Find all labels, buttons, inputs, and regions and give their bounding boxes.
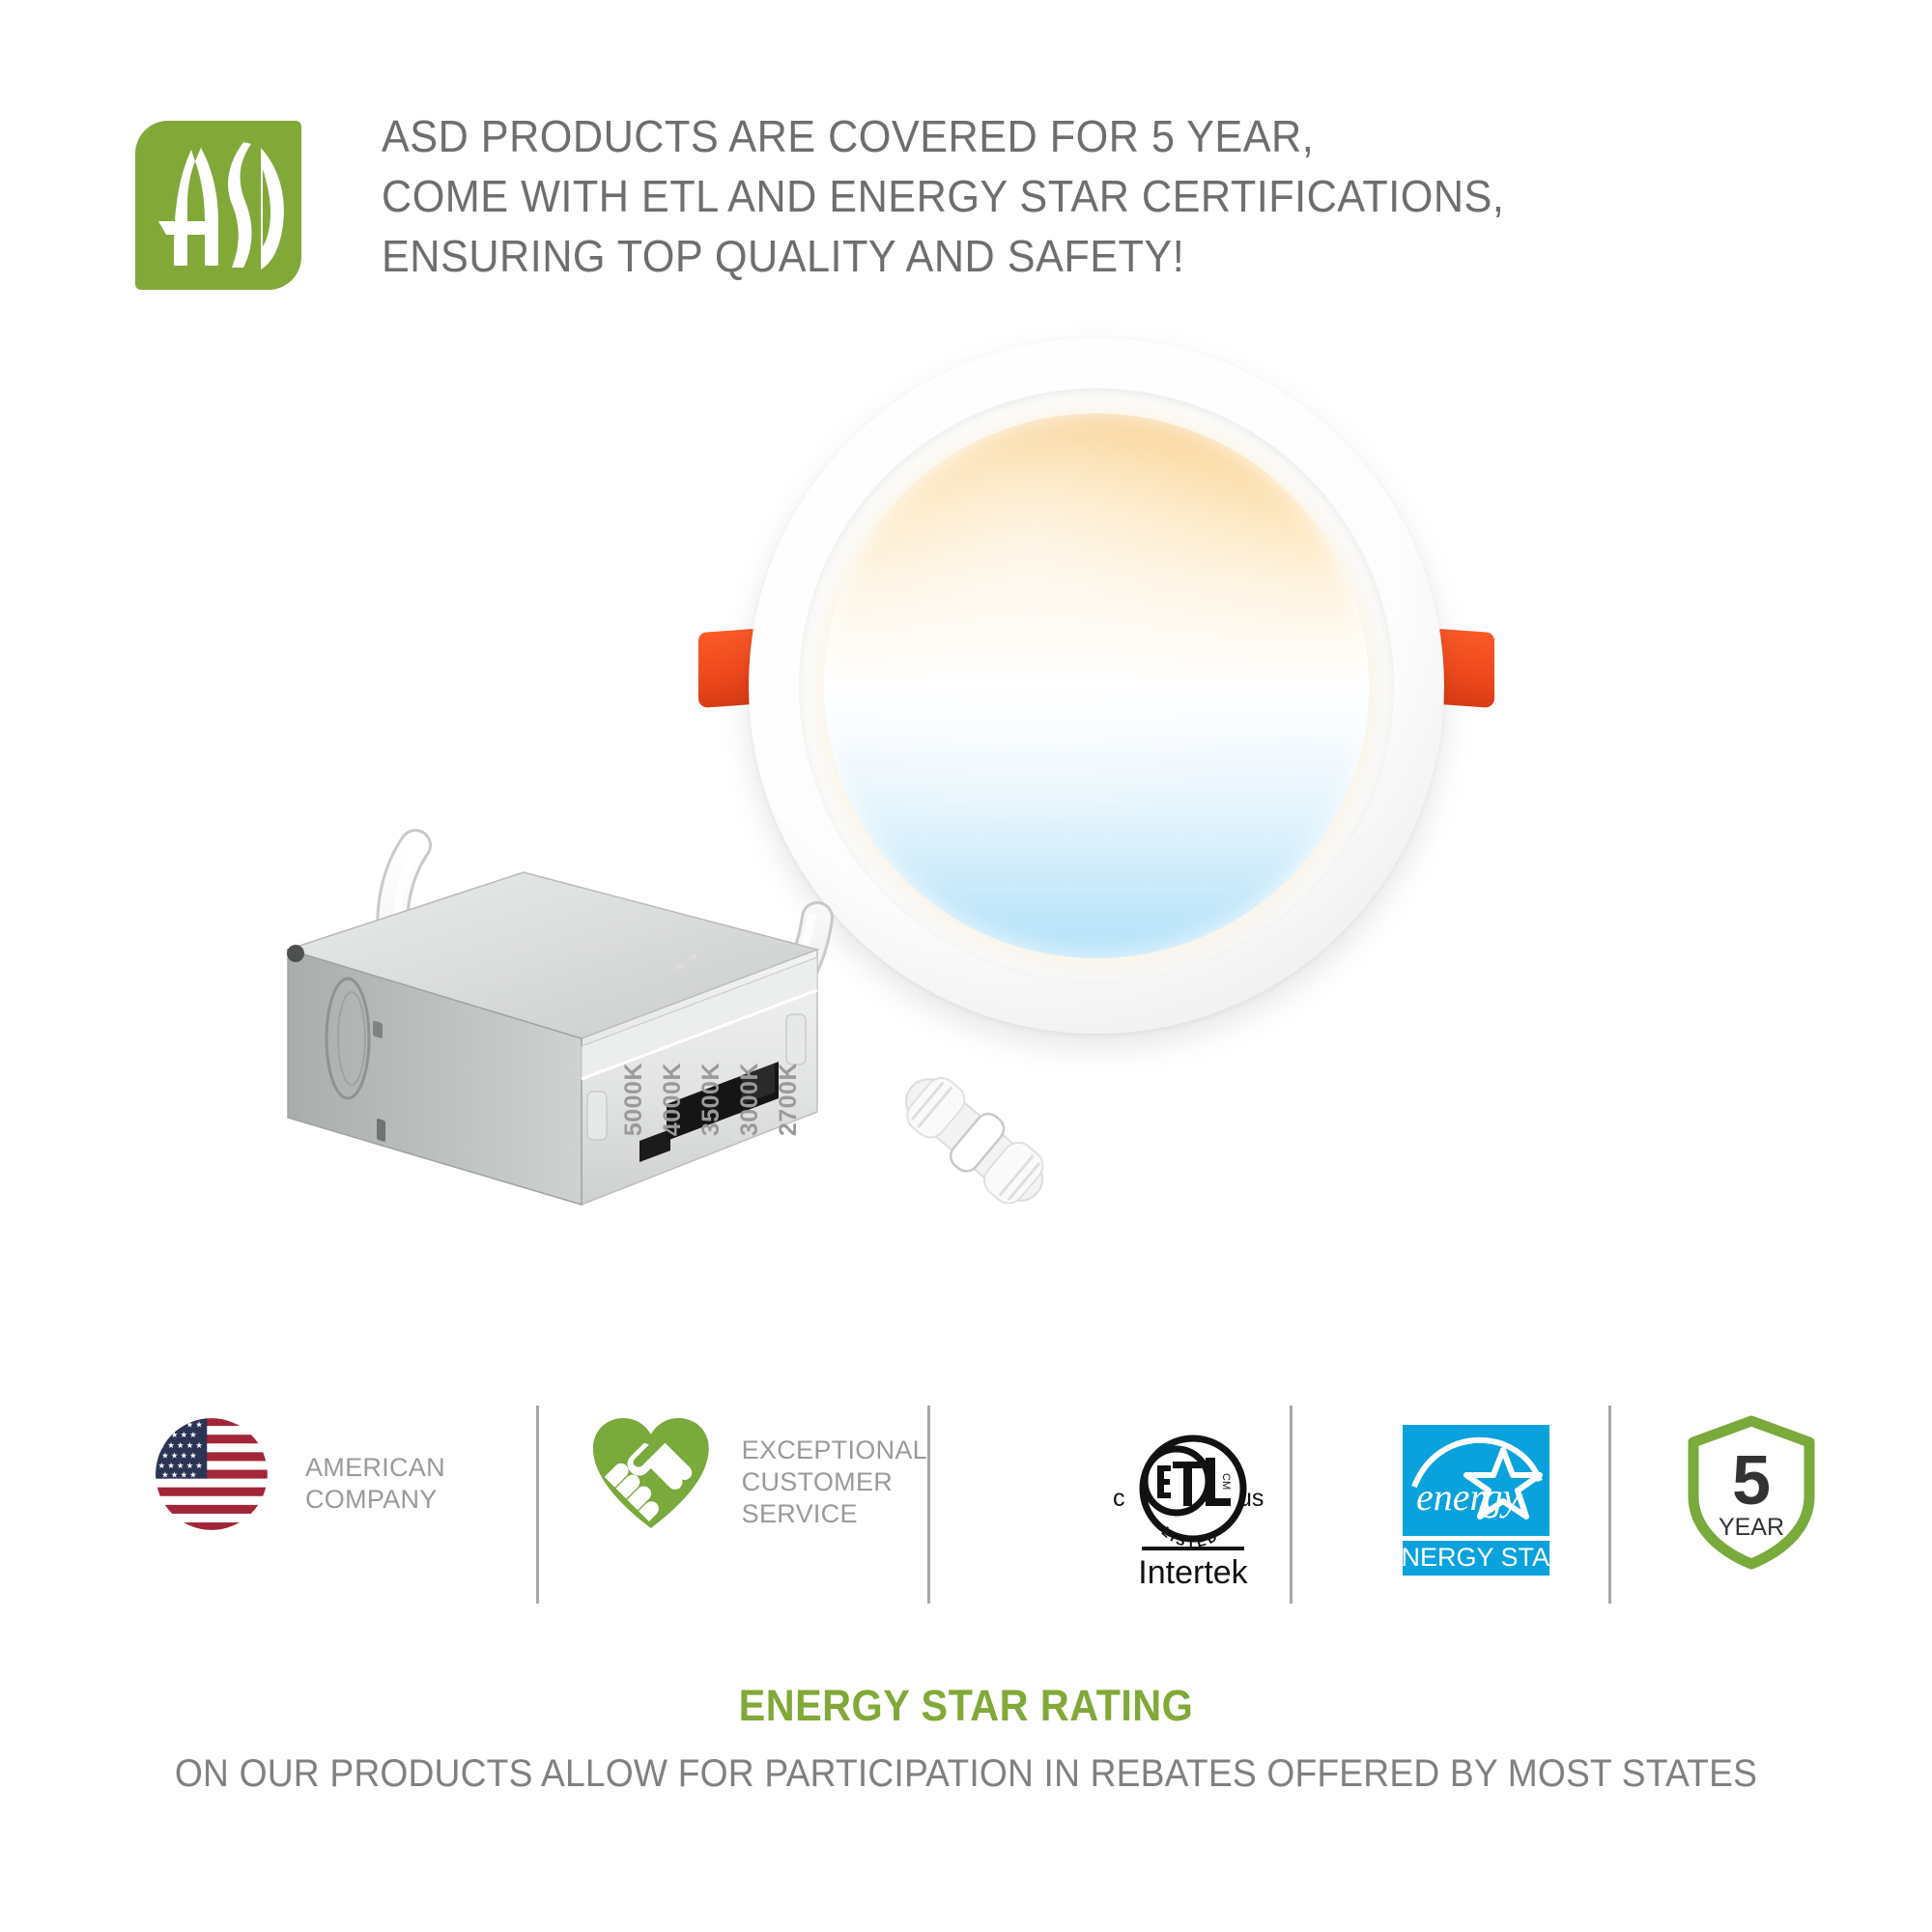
etl-intertek-label: Intertek <box>1138 1554 1248 1591</box>
header-line-2: COME WITH ETL AND ENERGY STAR CERTIFICAT… <box>382 166 1744 226</box>
etl-c-label: c <box>1113 1485 1125 1512</box>
cct-option-5000k: 5000K <box>620 1063 648 1136</box>
handshake-heart-icon <box>589 1413 713 1531</box>
badge-divider-4 <box>1608 1406 1611 1604</box>
footer-subtitle: ON OUR PRODUCTS ALLOW FOR PARTICIPATION … <box>68 1752 1864 1796</box>
svg-text:★ ★ ★ ★: ★ ★ ★ ★ <box>161 1451 196 1460</box>
quick-connect-connector <box>850 1014 1101 1265</box>
badge-line: CUSTOMER <box>742 1466 927 1498</box>
badge-line: EXCEPTIONAL <box>742 1435 927 1466</box>
badge-energy-star: energy ENERGY STAR <box>1348 1396 1608 1618</box>
svg-text:★ ★ ★ ★: ★ ★ ★ ★ <box>161 1471 196 1480</box>
badge-divider-2 <box>927 1406 930 1604</box>
badge-customer-service-label: EXCEPTIONAL CUSTOMER SERVICE <box>742 1435 927 1530</box>
cct-option-3000k: 3000K <box>736 1063 764 1136</box>
badge-warranty-5-year: 5 YEAR <box>1666 1396 1835 1618</box>
energy-script-label: energy <box>1416 1475 1520 1519</box>
junction-box: 5000K 4000K 3500K 3000K 2700K <box>280 845 821 1251</box>
header-headline: ASD PRODUCTS ARE COVERED FOR 5 YEAR, COM… <box>382 106 1744 286</box>
footer: ENERGY STAR RATING ON OUR PRODUCTS ALLOW… <box>0 1681 1932 1796</box>
badge-american-company: ★ ★ ★ ★ ★ ★ ★ ★ ★ ★ ★ ★ ★ ★ ★ ★ ★ ★ ★ ★ … <box>155 1396 531 1618</box>
badge-line: AMERICAN <box>305 1452 445 1484</box>
product-image: 5000K 4000K 3500K 3000K 2700K <box>0 319 1932 1372</box>
etl-listed-label: LISTED <box>1159 1523 1223 1549</box>
header: ASD PRODUCTS ARE COVERED FOR 5 YEAR, COM… <box>135 106 1835 319</box>
cct-option-3500k: 3500K <box>697 1063 725 1136</box>
svg-text:★ ★ ★ ★ ★: ★ ★ ★ ★ ★ <box>158 1441 203 1450</box>
etl-listed-intertek-icon: c us CM LISTED Intertek <box>1101 1417 1285 1596</box>
cct-option-4000k: 4000K <box>659 1063 687 1136</box>
certification-badge-row: ★ ★ ★ ★ ★ ★ ★ ★ ★ ★ ★ ★ ★ ★ ★ ★ ★ ★ ★ ★ … <box>135 1396 1835 1618</box>
asd-logo-mark-icon <box>135 121 301 290</box>
badge-american-company-label: AMERICAN COMPANY <box>305 1452 445 1516</box>
footer-title: ENERGY STAR RATING <box>77 1681 1855 1731</box>
header-line-1: ASD PRODUCTS ARE COVERED FOR 5 YEAR, <box>382 106 1744 166</box>
badge-line: COMPANY <box>305 1484 445 1516</box>
cct-switch-labels: 5000K 4000K 3500K 3000K 2700K <box>620 1063 803 1136</box>
svg-text:★ ★ ★ ★ ★: ★ ★ ★ ★ ★ <box>158 1421 203 1430</box>
shield-warranty-icon: 5 YEAR <box>1684 1415 1819 1570</box>
usa-flag-circle-icon: ★ ★ ★ ★ ★ ★ ★ ★ ★ ★ ★ ★ ★ ★ ★ ★ ★ ★ ★ ★ … <box>155 1417 269 1531</box>
etl-tm-label: CM <box>1220 1473 1232 1490</box>
badge-etl-listed: c us CM LISTED Intertek <box>1101 1396 1285 1618</box>
header-line-3: ENSURING TOP QUALITY AND SAFETY! <box>382 226 1744 286</box>
svg-text:LISTED: LISTED <box>1159 1523 1223 1549</box>
marketing-banner: ASD PRODUCTS ARE COVERED FOR 5 YEAR, COM… <box>0 0 1932 1932</box>
cct-option-2700k: 2700K <box>775 1063 803 1136</box>
badge-divider-3 <box>1290 1406 1293 1604</box>
energy-star-wordmark: ENERGY STAR <box>1399 1543 1558 1572</box>
energy-star-icon: energy ENERGY STAR <box>1399 1423 1558 1577</box>
svg-text:★ ★ ★ ★ ★: ★ ★ ★ ★ ★ <box>158 1462 203 1470</box>
badge-line: SERVICE <box>742 1498 927 1530</box>
warranty-unit-label: YEAR <box>1718 1514 1783 1541</box>
warranty-number-label: 5 <box>1731 1442 1770 1520</box>
asd-logo <box>135 121 301 290</box>
badge-customer-service: EXCEPTIONAL CUSTOMER SERVICE <box>589 1396 927 1618</box>
badge-divider-1 <box>536 1406 539 1604</box>
svg-text:★ ★ ★ ★: ★ ★ ★ ★ <box>161 1431 196 1439</box>
